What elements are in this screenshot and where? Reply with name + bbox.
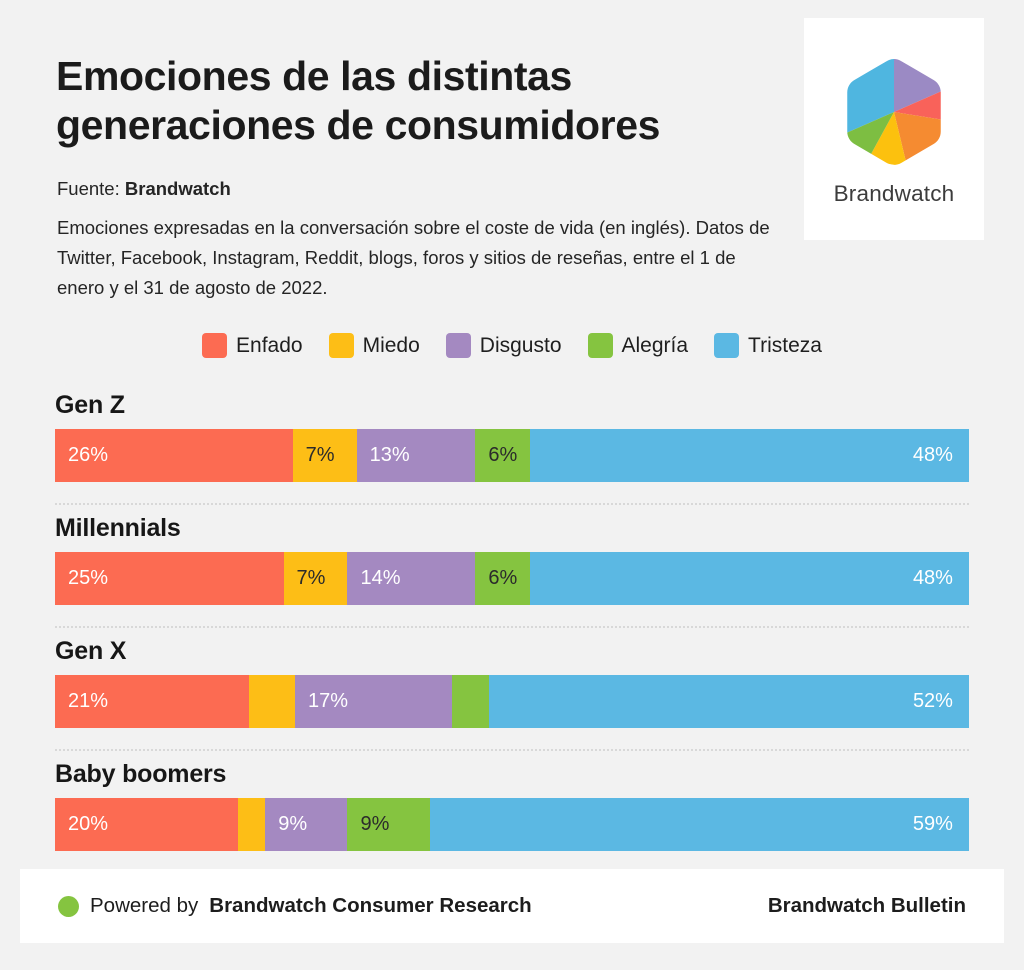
legend-swatch-icon bbox=[329, 333, 354, 358]
stacked-bar: 25%7%14%6%48% bbox=[55, 552, 969, 605]
powered-prefix: Powered by bbox=[90, 894, 198, 918]
bar-segment-value: 14% bbox=[360, 567, 400, 590]
legend-item-label: Tristeza bbox=[748, 334, 822, 358]
bar-segment-disgusto: 17% bbox=[295, 675, 452, 728]
bar-segment-value: 7% bbox=[297, 567, 326, 590]
bar-category-label: Gen Z bbox=[55, 382, 969, 429]
green-dot-icon bbox=[58, 896, 79, 917]
bar-segment-value: 9% bbox=[278, 813, 307, 836]
bar-segment-value: 48% bbox=[913, 444, 953, 467]
legend-item-disgusto: Disgusto bbox=[446, 333, 562, 358]
brandwatch-hexagon-logo-icon bbox=[839, 57, 949, 167]
bar-segment-disgusto: 13% bbox=[357, 429, 476, 482]
chart-legend: Enfado Miedo Disgusto Alegría Tristeza bbox=[0, 333, 1024, 358]
legend-swatch-icon bbox=[588, 333, 613, 358]
powered-product-name: Brandwatch Consumer Research bbox=[209, 894, 531, 918]
bar-segment-miedo bbox=[249, 675, 295, 728]
description-text: Emociones expresadas en la conversación … bbox=[57, 213, 772, 303]
bar-segment-miedo: 7% bbox=[284, 552, 348, 605]
bar-segment-value: 6% bbox=[488, 444, 517, 467]
bar-segment-value: 7% bbox=[306, 444, 335, 467]
bar-group-gen-x: Gen X21%17%52% bbox=[0, 628, 1024, 728]
bar-segment-alegr-a: 9% bbox=[347, 798, 429, 851]
bar-segment-alegr-a bbox=[452, 675, 489, 728]
bar-segment-value: 6% bbox=[488, 567, 517, 590]
bar-segment-value: 9% bbox=[360, 813, 389, 836]
bar-segment-miedo bbox=[238, 798, 265, 851]
bar-segment-value: 52% bbox=[913, 690, 953, 713]
bar-segment-alegr-a: 6% bbox=[475, 552, 530, 605]
source-line: Fuente: Brandwatch bbox=[57, 178, 231, 200]
bar-segment-value: 13% bbox=[370, 444, 410, 467]
bar-segment-value: 20% bbox=[68, 813, 108, 836]
source-prefix: Fuente: bbox=[57, 178, 125, 199]
brandwatch-wordmark: Brandwatch bbox=[834, 181, 955, 207]
legend-item-label: Enfado bbox=[236, 334, 303, 358]
legend-swatch-icon bbox=[714, 333, 739, 358]
powered-by: Powered by Brandwatch Consumer Research bbox=[58, 894, 532, 918]
page-title: Emociones de las distintas generaciones … bbox=[56, 52, 756, 150]
bar-segment-value: 21% bbox=[68, 690, 108, 713]
bar-segment-alegr-a: 6% bbox=[475, 429, 530, 482]
bar-segment-enfado: 21% bbox=[55, 675, 249, 728]
bar-segment-disgusto: 14% bbox=[347, 552, 475, 605]
bar-segment-tristeza: 48% bbox=[530, 429, 969, 482]
bar-segment-enfado: 26% bbox=[55, 429, 293, 482]
footer: Powered by Brandwatch Consumer Research … bbox=[20, 869, 1004, 943]
bar-category-label: Baby boomers bbox=[55, 751, 969, 798]
bar-category-label: Millennials bbox=[55, 505, 969, 552]
bar-segment-value: 26% bbox=[68, 444, 108, 467]
bar-group-baby-boomers: Baby boomers20%9%9%59% bbox=[0, 751, 1024, 851]
infographic-page: Emociones de las distintas generaciones … bbox=[0, 0, 1024, 970]
bar-group-gen-z: Gen Z26%7%13%6%48% bbox=[0, 382, 1024, 482]
legend-swatch-icon bbox=[202, 333, 227, 358]
bar-group-millennials: Millennials25%7%14%6%48% bbox=[0, 505, 1024, 605]
stacked-bar-chart: Gen Z26%7%13%6%48%Millennials25%7%14%6%4… bbox=[0, 382, 1024, 851]
source-name: Brandwatch bbox=[125, 178, 231, 199]
stacked-bar: 21%17%52% bbox=[55, 675, 969, 728]
bar-segment-miedo: 7% bbox=[293, 429, 357, 482]
bar-segment-disgusto: 9% bbox=[265, 798, 347, 851]
stacked-bar: 26%7%13%6%48% bbox=[55, 429, 969, 482]
bar-segment-value: 25% bbox=[68, 567, 108, 590]
legend-item-label: Alegría bbox=[622, 334, 689, 358]
bar-segment-value: 48% bbox=[913, 567, 953, 590]
legend-item-miedo: Miedo bbox=[329, 333, 420, 358]
legend-item-label: Disgusto bbox=[480, 334, 562, 358]
bar-segment-value: 59% bbox=[913, 813, 953, 836]
stacked-bar: 20%9%9%59% bbox=[55, 798, 969, 851]
bar-segment-tristeza: 59% bbox=[430, 798, 969, 851]
bar-category-label: Gen X bbox=[55, 628, 969, 675]
bar-segment-tristeza: 52% bbox=[489, 675, 969, 728]
bar-segment-tristeza: 48% bbox=[530, 552, 969, 605]
bar-segment-enfado: 20% bbox=[55, 798, 238, 851]
legend-item-alegria: Alegría bbox=[588, 333, 689, 358]
bar-segment-value: 17% bbox=[308, 690, 348, 713]
brandwatch-logo-card: Brandwatch bbox=[804, 18, 984, 240]
legend-swatch-icon bbox=[446, 333, 471, 358]
bar-segment-enfado: 25% bbox=[55, 552, 284, 605]
legend-item-label: Miedo bbox=[363, 334, 420, 358]
bulletin-label: Brandwatch Bulletin bbox=[768, 894, 966, 918]
legend-item-enfado: Enfado bbox=[202, 333, 303, 358]
legend-item-tristeza: Tristeza bbox=[714, 333, 822, 358]
